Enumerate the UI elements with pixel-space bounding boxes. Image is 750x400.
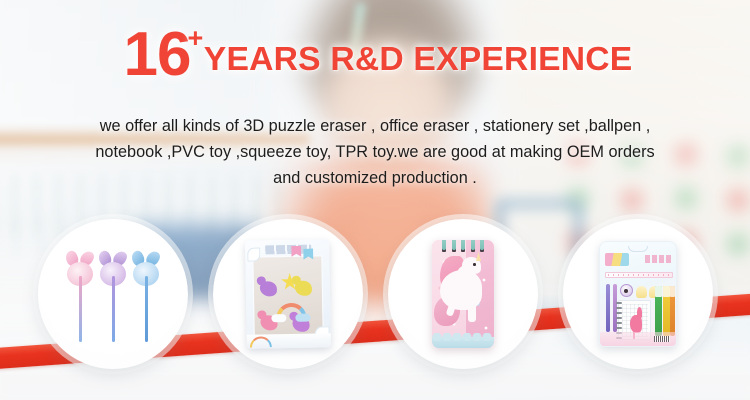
headline-number: 16 — [123, 24, 190, 86]
headline-plus-superscript: + — [187, 25, 203, 52]
description-line-1: we offer all kinds of 3D puzzle eraser ,… — [62, 113, 688, 139]
product-circle-unicorn-spiral-notebook[interactable] — [388, 219, 538, 369]
product-image-unicorn-spiral-notebook — [432, 240, 494, 348]
pen-blue — [131, 244, 161, 344]
product-image-pom-pom-bunny-pens — [65, 244, 161, 344]
marker-orange — [670, 286, 675, 336]
headline: 16+YEARS R&D EXPERIENCE — [0, 24, 750, 86]
description-line-2: notebook ,PVC toy ,squeeze toy, TPR toy.… — [62, 139, 688, 165]
barcode — [654, 336, 670, 342]
pen-shaft — [145, 276, 148, 342]
unicorn-leg-front — [468, 298, 476, 322]
notebook-spiral-binding — [442, 240, 484, 249]
promo-banner: 16+YEARS R&D EXPERIENCE we offer all kin… — [0, 0, 750, 400]
eraser-cupcake-1 — [636, 286, 647, 298]
marker-green — [655, 286, 662, 336]
blister-hang-hole — [628, 246, 648, 252]
cloud-eraser-white — [271, 314, 286, 322]
pen-pink — [65, 244, 95, 344]
rainbow-print-icon — [250, 336, 272, 347]
blister-brand-print — [645, 255, 671, 263]
pen-shaft — [112, 276, 115, 342]
unicorn-eraser-yellow — [295, 281, 312, 296]
gift-box-base — [247, 333, 331, 348]
product-image-flamingo-stationery-set — [599, 241, 677, 347]
pen-violet — [606, 284, 610, 332]
gift-box-window — [252, 255, 323, 336]
description: we offer all kinds of 3D puzzle eraser ,… — [62, 113, 688, 191]
pen-purple — [98, 244, 128, 344]
blister-logo — [605, 253, 629, 266]
product-image-unicorn-eraser-gift-box — [245, 239, 331, 348]
flamingo-icon — [630, 315, 642, 333]
product-circle-unicorn-eraser-gift-box[interactable] — [213, 219, 363, 369]
pen-shaft — [79, 276, 82, 342]
ruler — [605, 272, 673, 278]
headline-text: YEARS R&D EXPERIENCE — [204, 42, 633, 75]
unicorn-charm-icon — [620, 284, 633, 297]
description-line-3: and customized production . — [62, 165, 688, 191]
product-circle-flamingo-stationery-set[interactable] — [563, 219, 713, 369]
product-circle-pom-pom-bunny-pens[interactable] — [38, 219, 188, 369]
notebook-bottom-wave — [432, 337, 494, 348]
marker-yellow — [663, 286, 670, 336]
unicorn-eye — [473, 263, 476, 266]
cloud-eraser-blue — [295, 314, 310, 322]
unicorn-eraser-purple — [260, 281, 277, 296]
